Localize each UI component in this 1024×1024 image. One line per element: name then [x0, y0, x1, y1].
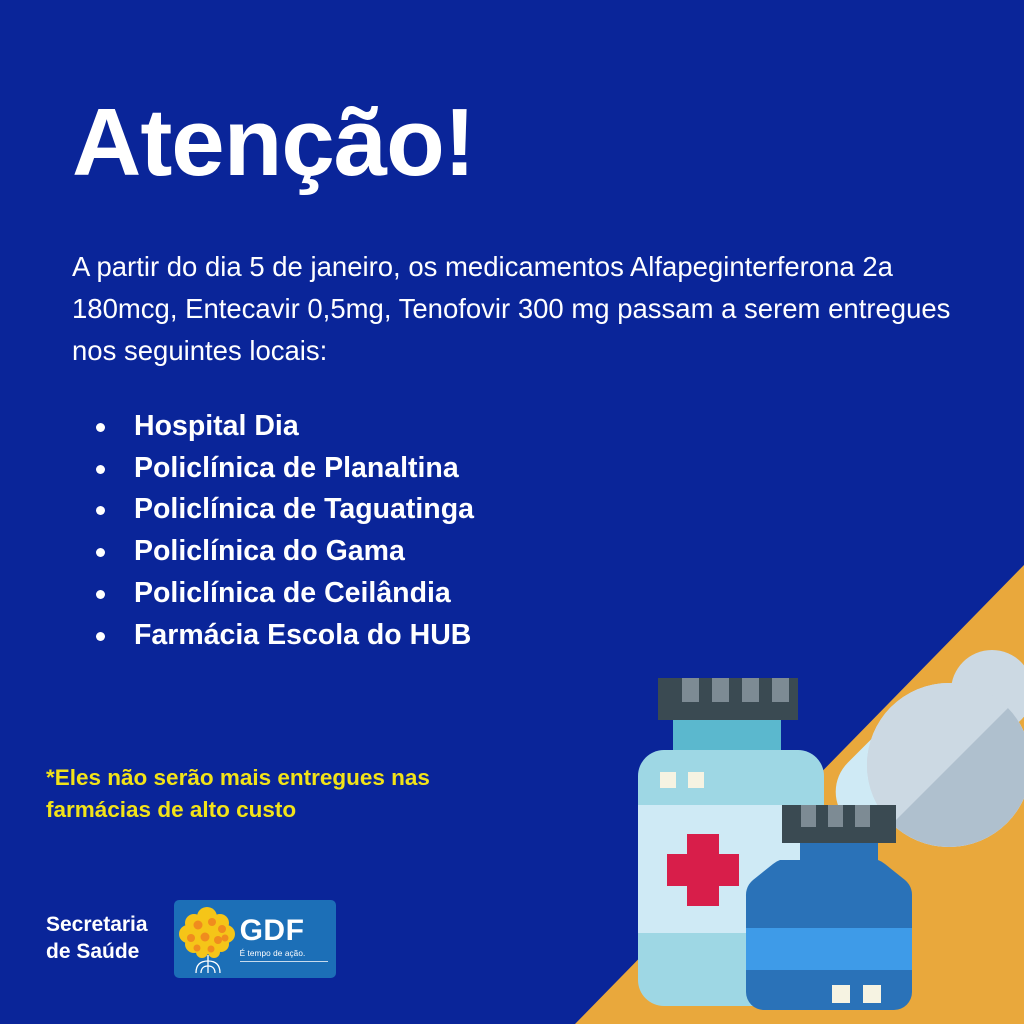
list-item-label: Policlínica de Taguatinga	[134, 493, 474, 525]
gdf-underline	[240, 961, 328, 962]
gdf-tagline: É tempo de ação.	[240, 949, 328, 958]
gdf-logo: GDF É tempo de ação.	[174, 900, 336, 978]
bullet-dot-icon	[96, 423, 105, 432]
body-paragraph: A partir do dia 5 de janeiro, os medicam…	[72, 246, 952, 371]
bullet-dot-icon	[96, 548, 105, 557]
list-item: Farmácia Escola do HUB	[92, 615, 474, 657]
bullet-dot-icon	[96, 506, 105, 515]
list-item-label: Policlínica do Gama	[134, 535, 405, 567]
locations-list: Hospital Dia Policlínica de Planaltina P…	[92, 406, 474, 656]
footer-logos: Secretaria de Saúde	[46, 900, 336, 978]
list-item: Policlínica de Ceilândia	[92, 573, 474, 615]
footnote-text: *Eles não serão mais entregues nas farmá…	[46, 762, 516, 826]
list-item: Policlínica do Gama	[92, 531, 474, 573]
list-item: Hospital Dia	[92, 406, 474, 448]
bullet-dot-icon	[96, 465, 105, 474]
gdf-letters: GDF	[240, 916, 328, 946]
poster-canvas: Atenção! A partir do dia 5 de janeiro, o…	[0, 0, 1024, 1024]
gdf-wordmark: GDF É tempo de ação.	[240, 916, 328, 962]
list-item: Policlínica de Planaltina	[92, 448, 474, 490]
bullet-dot-icon	[96, 632, 105, 641]
page-title: Atenção!	[72, 95, 475, 191]
list-item-label: Hospital Dia	[134, 410, 299, 442]
list-item-label: Farmácia Escola do HUB	[134, 619, 471, 651]
secretaria-de-saude-logo: Secretaria de Saúde	[46, 912, 148, 966]
list-item-label: Policlínica de Ceilândia	[134, 577, 451, 609]
list-item: Policlínica de Taguatinga	[92, 489, 474, 531]
poster-content: Atenção! A partir do dia 5 de janeiro, o…	[0, 0, 1024, 1024]
bullet-dot-icon	[96, 590, 105, 599]
ipe-tree-icon	[174, 903, 242, 975]
list-item-label: Policlínica de Planaltina	[134, 452, 459, 484]
